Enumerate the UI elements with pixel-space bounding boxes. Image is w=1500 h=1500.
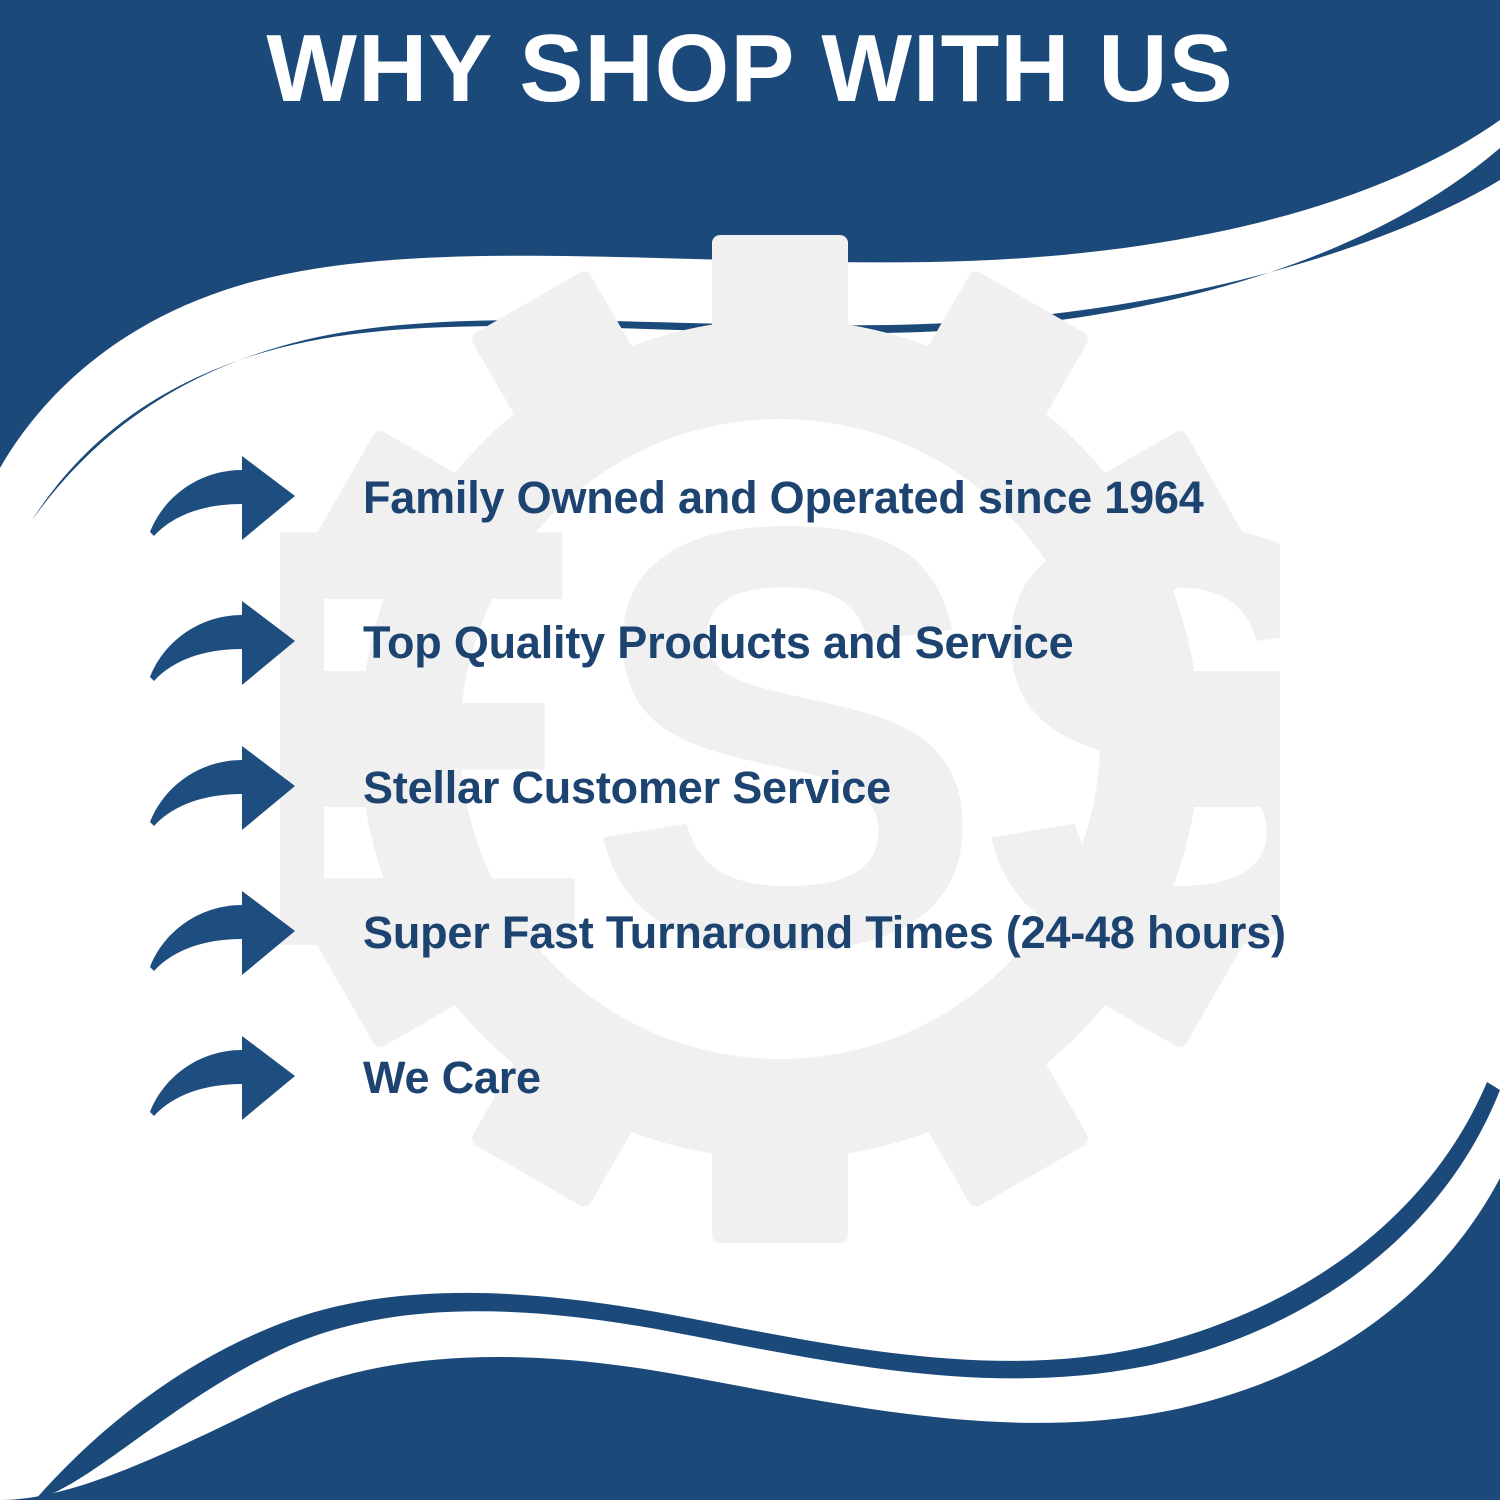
list-item-label: Top Quality Products and Service [363, 617, 1450, 669]
benefits-list: Family Owned and Operated since 1964 Top… [150, 425, 1450, 1150]
list-item: We Care [150, 1005, 1450, 1150]
list-item: Super Fast Turnaround Times (24-48 hours… [150, 860, 1450, 1005]
footer-blue-wave [0, 1178, 1500, 1500]
list-item: Family Owned and Operated since 1964 [150, 425, 1450, 570]
list-item-label: Family Owned and Operated since 1964 [363, 472, 1450, 524]
curved-arrow-right-icon [150, 601, 295, 685]
curved-arrow-right-icon [150, 1036, 295, 1120]
curved-arrow-right-icon [150, 746, 295, 830]
list-item-label: We Care [363, 1052, 1450, 1104]
list-item: Top Quality Products and Service [150, 570, 1450, 715]
list-item-label: Super Fast Turnaround Times (24-48 hours… [363, 907, 1450, 959]
page-title: WHY SHOP WITH US [0, 20, 1500, 118]
why-shop-with-us-poster: ESS WHY SHOP WITH US Family Owned and Op… [0, 0, 1500, 1500]
list-item-label: Stellar Customer Service [363, 762, 1450, 814]
curved-arrow-right-icon [150, 891, 295, 975]
list-item: Stellar Customer Service [150, 715, 1450, 860]
curved-arrow-right-icon [150, 456, 295, 540]
